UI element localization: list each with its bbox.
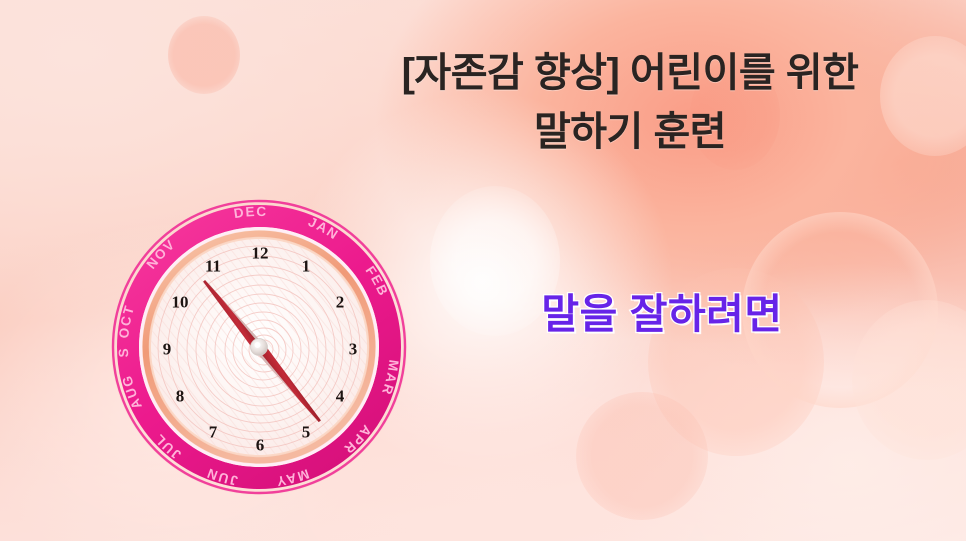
month-label: DEC xyxy=(233,204,268,221)
hour-numeral: 4 xyxy=(336,387,345,406)
hour-numeral: 10 xyxy=(172,293,189,312)
hour-numeral: 12 xyxy=(252,244,269,263)
hour-numeral: 1 xyxy=(302,257,311,276)
headline-line-1: [자존감 향상] 어린이를 위한 xyxy=(300,44,960,103)
hour-numeral: 7 xyxy=(209,423,218,442)
hour-numeral: 2 xyxy=(336,293,345,312)
calendar-clock-graphic: OCT NOV DEC JAN FEB MAR APR xyxy=(110,198,408,496)
hour-numeral: 5 xyxy=(302,423,311,442)
slide-canvas: OCT NOV DEC JAN FEB MAR APR xyxy=(0,0,966,541)
slide-subheadline: 말을 잘하려면 xyxy=(452,280,872,340)
hour-numeral: 11 xyxy=(205,257,221,276)
slide-headline: [자존감 향상] 어린이를 위한 말하기 훈련 xyxy=(300,44,960,162)
headline-line-2: 말하기 훈련 xyxy=(300,103,960,162)
hour-numeral: 8 xyxy=(176,387,185,406)
hour-numeral: 3 xyxy=(349,340,358,359)
hour-numeral: 9 xyxy=(163,340,172,359)
hour-numeral: 6 xyxy=(256,436,265,455)
